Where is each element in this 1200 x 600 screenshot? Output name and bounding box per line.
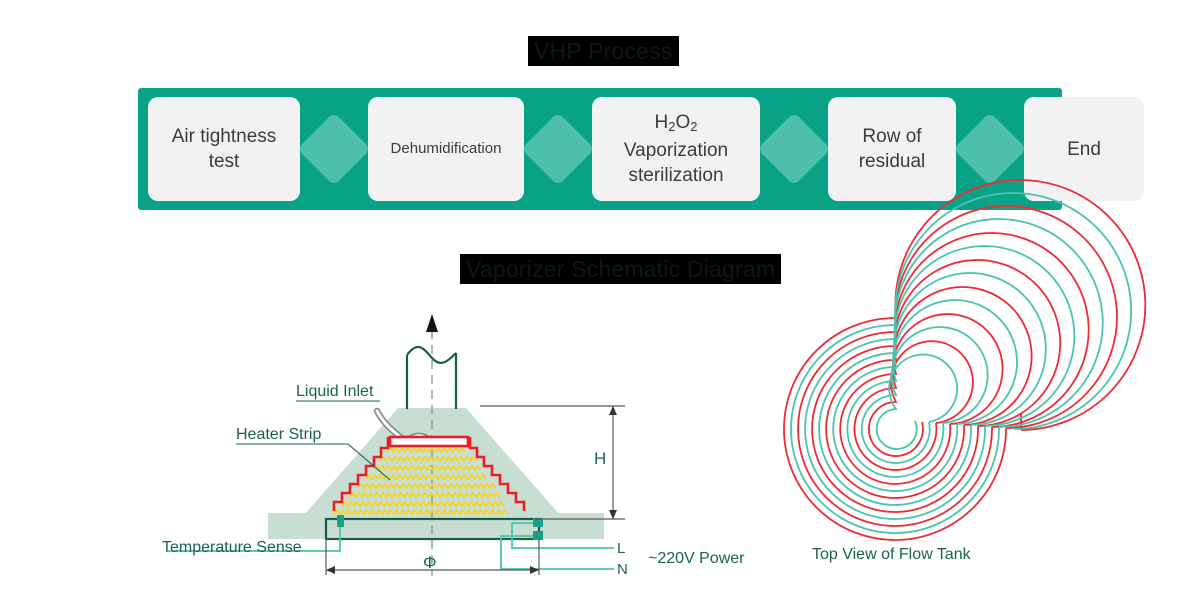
centerline-arrow-icon	[426, 314, 438, 332]
label-temperature-sense: Temperature Sense	[162, 538, 302, 557]
label-liquid-inlet: Liquid Inlet	[296, 382, 373, 401]
power-wire-N	[501, 536, 614, 569]
flow-tank-top-view	[784, 180, 1145, 540]
vaporizer-base-slab	[268, 513, 604, 539]
power-terminal-N	[533, 531, 543, 540]
flow-tank-inner-spiral	[791, 193, 1131, 533]
label-height-dimension: H	[594, 449, 606, 468]
label-power-supply: ~220V Power	[648, 549, 745, 568]
label-line-N: N	[617, 560, 628, 579]
phi-arrow-left-icon	[326, 566, 335, 574]
h-arrow-down-icon	[609, 510, 617, 519]
temperature-sensor-terminal	[337, 515, 344, 527]
label-diameter-dimension: Φ	[423, 553, 437, 572]
phi-arrow-right-icon	[530, 566, 539, 574]
label-heater-strip: Heater Strip	[236, 425, 321, 444]
heater-strip-bar	[390, 437, 468, 446]
label-line-L: L	[617, 539, 625, 558]
h-arrow-up-icon	[609, 406, 617, 415]
caption-top-view-of-flow-tank: Top View of Flow Tank	[812, 545, 971, 564]
vaporizer-schematic-drawing	[0, 0, 1200, 600]
